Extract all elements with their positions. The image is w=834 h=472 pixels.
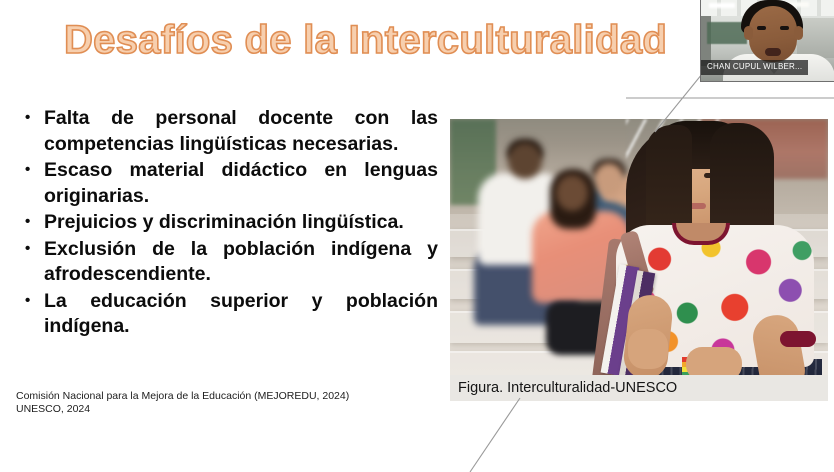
bullet-text: Escaso material didáctico en lenguas ori… [44, 158, 438, 209]
bullet-text: La educación superior y población indíge… [44, 289, 438, 340]
bullet-text: Exclusión de la población indígena y afr… [44, 237, 438, 288]
video-participant-name: CHAN CUPUL WILBER... [701, 60, 808, 75]
photo-background-student [508, 143, 542, 179]
bullet-text: Prejuicios y discriminación lingüística. [44, 210, 438, 236]
photo-background-student [556, 175, 588, 211]
list-item: Exclusión de la población indígena y afr… [18, 237, 438, 288]
diagonal-leader-line-bottom [470, 398, 520, 472]
bullet-list: Falta de personal docente con las compet… [18, 106, 438, 341]
photo-woman-sleeve-cuff [780, 331, 816, 347]
video-person-mouth [765, 48, 781, 56]
list-item: Prejuicios y discriminación lingüística. [18, 210, 438, 236]
photo-background-student [594, 163, 624, 197]
video-person-ear [744, 26, 753, 40]
photo-woman-hand [628, 329, 668, 369]
video-person-eye [757, 26, 766, 30]
video-ceiling-light [709, 3, 735, 8]
page-title: Desafíos de la Interculturalidad [64, 18, 667, 63]
figure-block: Figura. Interculturalidad-UNESCO [450, 119, 828, 401]
video-person-eye [780, 26, 789, 30]
bullet-text: Falta de personal docente con las compet… [44, 106, 438, 157]
citation-line: UNESCO, 2024 [16, 403, 436, 416]
list-item: La educación superior y población indíge… [18, 289, 438, 340]
list-item: Falta de personal docente con las compet… [18, 106, 438, 157]
list-item: Escaso material didáctico en lenguas ori… [18, 158, 438, 209]
video-person-ear [794, 26, 803, 40]
source-citations: Comisión Nacional para la Mejora de la E… [16, 390, 436, 416]
presentation-slide: Desafíos de la Interculturalidad Falta d… [0, 0, 834, 472]
figure-caption: Figura. Interculturalidad-UNESCO [450, 375, 828, 401]
figure-photo [450, 119, 828, 375]
photo-woman-hand [686, 347, 742, 375]
video-participant-thumbnail[interactable]: CHAN CUPUL WILBER... [700, 0, 834, 82]
citation-line: Comisión Nacional para la Mejora de la E… [16, 390, 436, 403]
